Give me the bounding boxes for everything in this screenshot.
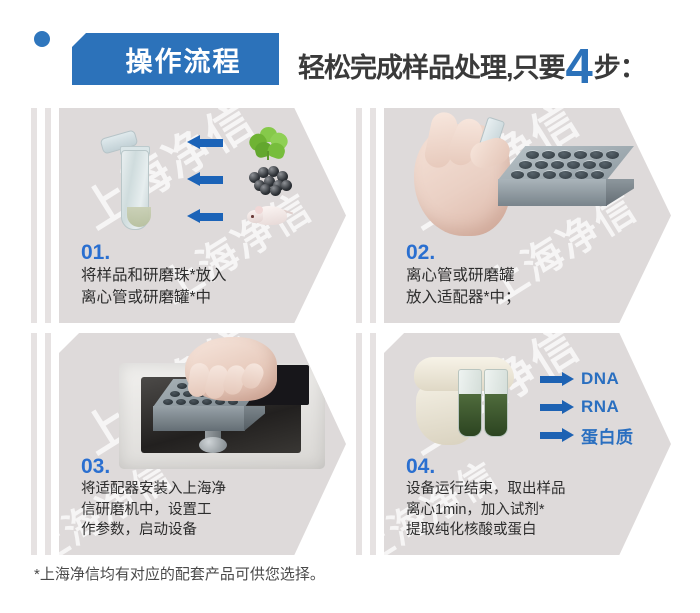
output-labels: DNA RNA 蛋白质 — [540, 365, 666, 449]
step-02-illustration — [402, 114, 652, 246]
side-bar — [356, 108, 362, 323]
output-row-rna: RNA — [540, 393, 666, 421]
card-side-bars — [353, 333, 383, 555]
tagline-part2: 步 — [594, 46, 620, 85]
clover-leaf-icon — [247, 127, 293, 159]
sample-row-beads — [187, 167, 317, 193]
step-text-line: 放入适配器*中； — [406, 287, 521, 309]
banner-label: 操作流程 — [110, 40, 242, 79]
step-text-line: 离心管或研磨罐*中 — [81, 287, 227, 309]
arrow-right-icon — [540, 400, 574, 414]
step-text-line: 将适配器安装入上海净 — [81, 479, 226, 500]
output-label: DNA — [581, 369, 619, 389]
page-header: 操作流程 轻松完成样品处理,只要 4 步 ： — [0, 0, 700, 100]
side-bar — [370, 108, 376, 323]
step-text-line: 作参数，启动设备 — [81, 520, 226, 541]
sample-row-leaf — [187, 130, 317, 156]
step-text-line: 离心1min，加入试剂* — [406, 500, 566, 521]
footer-note: *上海净信均有对应的配套产品可供您选择。 — [34, 563, 325, 584]
card-side-bars — [353, 108, 383, 323]
step-01-caption: 01. 将样品和研磨珠*放入 离心管或研磨罐*中 — [81, 242, 227, 309]
step-number: 02. — [406, 242, 521, 264]
tube-liquid — [485, 394, 507, 436]
output-row-protein: 蛋白质 — [540, 421, 666, 449]
step-text-line: 离心管或研磨罐 — [406, 265, 521, 287]
step-03-caption: 03. 将适配器安装入上海净 信研磨机中，设置工 作参数，启动设备 — [81, 456, 226, 541]
sample-tube-icon — [484, 369, 508, 437]
adapter-block-top — [498, 146, 634, 180]
sample-row-mouse — [187, 204, 317, 230]
step-card-01[interactable]: 上海净信 上海净信 — [28, 108, 346, 323]
step-number: 01. — [81, 242, 227, 264]
step-03-illustration — [119, 341, 329, 473]
side-bar — [45, 108, 51, 323]
grinding-beads-icon — [247, 164, 293, 196]
tagline: 轻松完成样品处理,只要 4 步 ： — [298, 37, 646, 86]
step-04-caption: 04. 设备运行结束，取出样品 离心1min，加入试剂* 提取纯化核酸或蛋白 — [406, 456, 566, 541]
adapter-block-front — [498, 179, 607, 206]
output-label: RNA — [581, 397, 619, 417]
card-panel: 上海净信 上海净信 — [384, 108, 671, 323]
output-label: 蛋白质 — [581, 423, 634, 448]
step-01-illustration — [87, 122, 317, 242]
lab-mouse-icon — [247, 201, 293, 233]
centrifuge-tube-icon — [117, 134, 151, 230]
arrow-right-icon — [540, 428, 574, 442]
tube-body — [121, 150, 149, 230]
sample-tube-icon — [458, 369, 482, 437]
output-row-dna: DNA — [540, 365, 666, 393]
step-text-line: 信研磨机中，设置工 — [81, 500, 226, 521]
adapter-block-front — [153, 406, 245, 431]
steps-grid: 上海净信 上海净信 — [0, 100, 700, 555]
card-panel: 上海净信 上海净信 — [59, 333, 346, 555]
blue-dot-icon — [34, 31, 50, 47]
tagline-part1: 轻松完成样品处理,只要 — [298, 46, 565, 85]
arrow-left-icon — [187, 135, 223, 150]
step-card-02[interactable]: 上海净信 上海净信 — [353, 108, 671, 323]
adapter-block-icon — [498, 146, 634, 206]
tagline-colon: ： — [620, 46, 646, 85]
step-02-caption: 02. 离心管或研磨罐 放入适配器*中； — [406, 242, 521, 309]
arrow-left-icon — [187, 209, 223, 224]
side-bar — [356, 333, 362, 555]
tagline-step-count: 4 — [566, 43, 593, 92]
arrow-right-icon — [540, 372, 574, 386]
machine-knob — [199, 437, 227, 453]
tube-liquid — [459, 394, 481, 436]
step-text-line: 设备运行结束，取出样品 — [406, 479, 566, 500]
card-side-bars — [28, 333, 58, 555]
adapter-block-side — [606, 179, 634, 206]
tube-liquid — [127, 207, 151, 227]
step-card-03[interactable]: 上海净信 上海净信 — [28, 333, 346, 555]
card-panel: 上海净信 上海净信 — [384, 333, 671, 555]
adapter-block-side — [244, 406, 265, 431]
side-bar — [45, 333, 51, 555]
card-panel: 上海净信 上海净信 — [59, 108, 346, 323]
step-04-illustration: DNA RNA 蛋白质 — [408, 347, 668, 467]
card-side-bars — [28, 108, 58, 323]
section-banner: 操作流程 — [72, 33, 279, 85]
side-bar — [31, 108, 37, 323]
side-bar — [31, 333, 37, 555]
step-number: 04. — [406, 456, 566, 478]
step-card-04[interactable]: 上海净信 上海净信 — [353, 333, 671, 555]
arrow-left-icon — [187, 172, 223, 187]
step-number: 03. — [81, 456, 226, 478]
step-text-line: 将样品和研磨珠*放入 — [81, 265, 227, 287]
side-bar — [370, 333, 376, 555]
step-text-line: 提取纯化核酸或蛋白 — [406, 520, 566, 541]
